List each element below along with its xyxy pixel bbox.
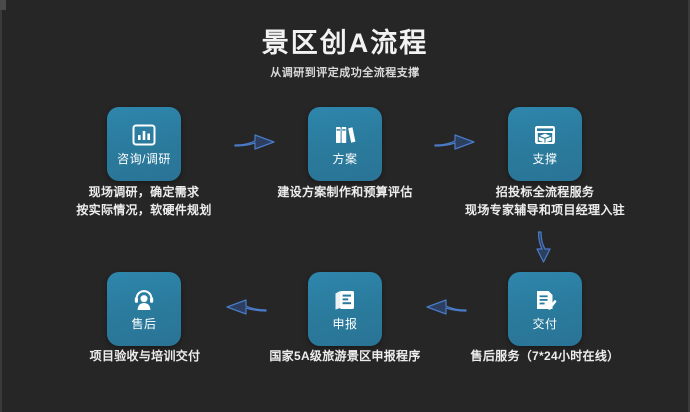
- step-caption-declare: 国家5A级旅游景区申报程序: [240, 347, 450, 365]
- step-card-label: 交付: [532, 317, 557, 331]
- step-card-label: 支撑: [532, 152, 557, 166]
- package-window-icon: [532, 122, 558, 148]
- books-icon: [332, 122, 358, 148]
- step-card-label: 售后: [131, 317, 156, 331]
- document-check-icon: [532, 287, 558, 313]
- flow-diagram-page: 景区创A流程 从调研到评定成功全流程支撑 咨询/调研 现场调研，确定需求 按实际…: [0, 0, 690, 412]
- caption-line-1: 现场调研，确定需求: [44, 183, 244, 201]
- page-title: 景区创A流程: [0, 26, 690, 60]
- step-caption-support: 招投标全流程服务 现场专家辅导和项目经理入驻: [445, 183, 645, 219]
- arrow-right-icon: [233, 132, 277, 152]
- header: 景区创A流程 从调研到评定成功全流程支撑: [0, 26, 690, 80]
- step-caption-delivery: 售后服务（7*24小时在线）: [440, 347, 650, 365]
- step-caption-consult: 现场调研，确定需求 按实际情况，软硬件规划: [44, 183, 244, 219]
- step-card-label: 方案: [332, 152, 357, 166]
- caption-line-1: 招投标全流程服务: [445, 183, 645, 201]
- document-form-icon: [332, 287, 358, 313]
- bar-chart-icon: [131, 122, 157, 148]
- step-caption-aftersales: 项目验收与培训交付: [40, 347, 250, 365]
- step-card-declare[interactable]: 申报: [308, 272, 382, 346]
- step-card-label: 咨询/调研: [117, 152, 171, 166]
- step-card-label: 申报: [332, 317, 357, 331]
- caption-line-1: 售后服务（7*24小时在线）: [440, 347, 650, 365]
- caption-line-1: 建设方案制作和预算评估: [245, 183, 445, 201]
- arrow-left-icon: [424, 297, 468, 317]
- step-card-consult[interactable]: 咨询/调研: [107, 107, 181, 181]
- step-caption-plan: 建设方案制作和预算评估: [245, 183, 445, 201]
- step-card-delivery[interactable]: 交付: [508, 272, 582, 346]
- page-subtitle: 从调研到评定成功全流程支撑: [0, 66, 690, 80]
- step-card-support[interactable]: 支撑: [508, 107, 582, 181]
- caption-line-2: 按实际情况，软硬件规划: [44, 201, 244, 219]
- caption-line-1: 国家5A级旅游景区申报程序: [240, 347, 450, 365]
- caption-line-1: 项目验收与培训交付: [40, 347, 250, 365]
- arrow-down-icon: [534, 230, 554, 264]
- headset-support-icon: [131, 287, 157, 313]
- arrow-left-icon: [224, 297, 268, 317]
- step-card-aftersales[interactable]: 售后: [107, 272, 181, 346]
- caption-line-2: 现场专家辅导和项目经理入驻: [445, 201, 645, 219]
- step-card-plan[interactable]: 方案: [308, 107, 382, 181]
- arrow-right-icon: [433, 132, 477, 152]
